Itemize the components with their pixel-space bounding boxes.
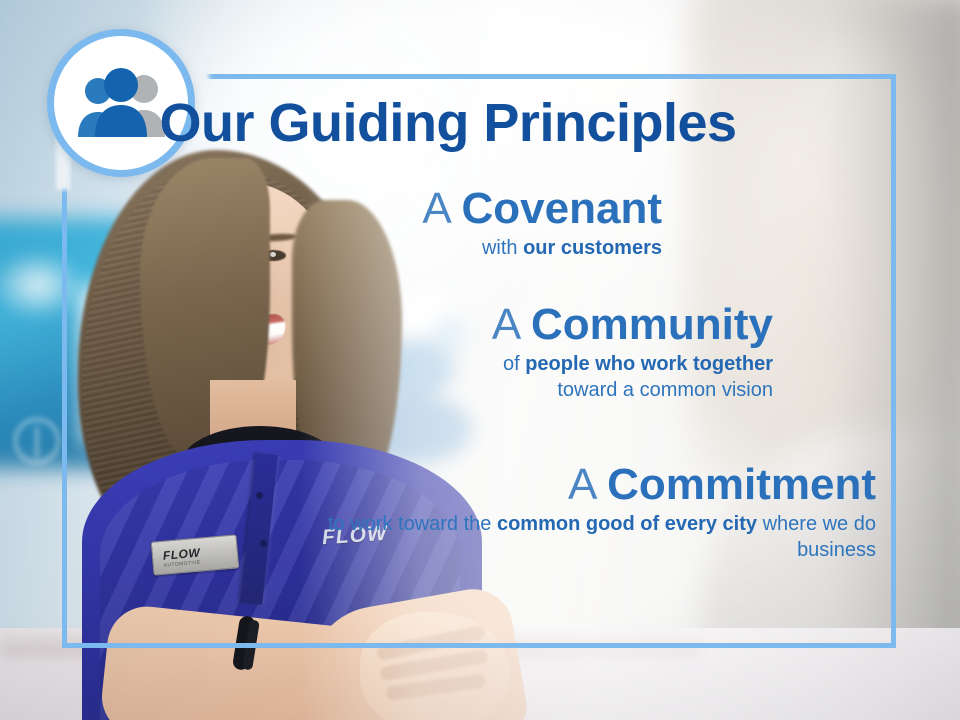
page-title: Our Guiding Principles [0,96,896,150]
vw-logo-blurred [14,418,60,464]
subtext-part: of [503,353,525,375]
guiding-principles-banner: FLOW AUTOMOTIVE FLOW [0,0,960,720]
subtext-part: where we do business [757,513,876,561]
subtext-part-bold: people who work together [525,353,773,375]
principle-subtext: to work toward the common good of every … [260,511,876,564]
subtext-part: to work toward the [328,513,497,535]
subtext-part-bold: our customers [523,237,662,259]
principle-article: A [568,460,595,509]
principle-article: A [492,300,519,349]
principle-keyword: Commitment [607,460,876,509]
subtext-part: with [482,237,523,259]
subtext-part-bold: common good of every city [497,513,757,535]
principle-keyword: Covenant [462,184,662,233]
principle-block-community: A Community of people who work together … [200,302,773,404]
principle-headline: A Community [200,302,773,348]
subtext-part: toward a common vision [557,379,773,401]
principle-block-covenant: A Covenant with our customers [180,186,662,261]
principle-article: A [422,184,449,233]
principle-block-commitment: A Commitment to work toward the common g… [260,462,876,564]
principle-subtext: of people who work together toward a com… [200,351,773,404]
principle-headline: A Commitment [260,462,876,508]
principle-headline: A Covenant [180,186,662,232]
principle-subtext: with our customers [180,235,662,261]
principle-keyword: Community [531,300,773,349]
